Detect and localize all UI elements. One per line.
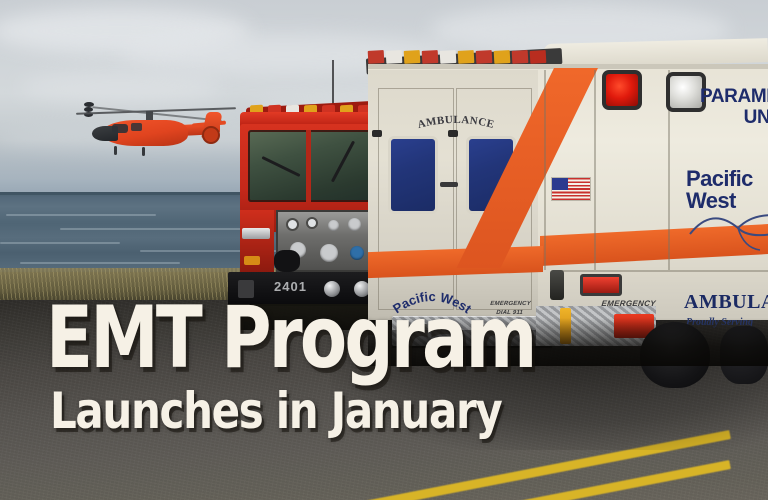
pump-outlet <box>350 246 364 260</box>
paramedic-unit-label: PARAMEDIC UNIT <box>700 86 768 129</box>
cabin-window <box>131 123 142 131</box>
warning-light <box>530 50 547 64</box>
seagull-wing-icon <box>690 215 768 234</box>
seagull-logo <box>686 200 768 260</box>
wave <box>0 242 120 244</box>
warning-light <box>368 50 385 64</box>
pump-outlet <box>320 244 338 262</box>
cockpit-window <box>112 124 128 133</box>
american-flag-decal <box>552 178 590 200</box>
door-handle[interactable] <box>440 182 458 187</box>
red-beacon-light <box>602 70 642 110</box>
warning-light <box>440 50 457 64</box>
page-subtitle: Launches in January <box>50 389 501 434</box>
panel-seam <box>544 70 546 270</box>
pump-valve <box>328 220 339 231</box>
rear-door-label: AMBULANCE <box>390 112 522 140</box>
warning-light <box>386 50 403 64</box>
svg-text:AMBULANCE: AMBULANCE <box>416 114 495 131</box>
page-title: EMT Program <box>46 302 534 376</box>
wave <box>6 214 156 216</box>
warning-light <box>458 50 475 64</box>
antenna <box>332 60 334 108</box>
pump-valve <box>348 218 361 231</box>
ambulance-word: AMBULANCE <box>684 292 768 312</box>
cloud <box>20 70 220 104</box>
warning-light <box>512 50 529 64</box>
coast-guard-helicopter <box>84 102 232 164</box>
pressure-gauge <box>286 218 299 231</box>
panel-seam <box>554 270 768 272</box>
unit-word: UNIT <box>700 107 768 128</box>
rear-door-window <box>388 136 438 214</box>
rear-marker-light <box>550 270 564 300</box>
warning-light <box>476 50 493 64</box>
amber-marker-light <box>244 256 260 265</box>
tail-light <box>580 274 622 296</box>
warning-light <box>404 50 421 64</box>
fenestron-icon <box>202 126 220 144</box>
paramedic-word: PARAMEDIC <box>700 86 768 107</box>
landing-strut <box>142 147 145 156</box>
pressure-gauge <box>306 217 318 229</box>
rear-door-label-text: AMBULANCE <box>416 114 495 131</box>
windshield <box>248 130 376 202</box>
warning-light <box>494 50 511 64</box>
flag-canton <box>552 178 568 190</box>
wave <box>20 262 180 264</box>
chrome-trim <box>242 228 270 239</box>
door-hinge <box>372 130 382 137</box>
windshield-pillar <box>306 130 311 202</box>
landing-strut <box>114 146 117 155</box>
hose-coupling <box>274 250 300 272</box>
panel-seam <box>594 70 596 270</box>
promo-banner: 2401 <box>0 0 768 500</box>
seagull-body-icon <box>738 228 768 235</box>
warning-light <box>422 50 439 64</box>
